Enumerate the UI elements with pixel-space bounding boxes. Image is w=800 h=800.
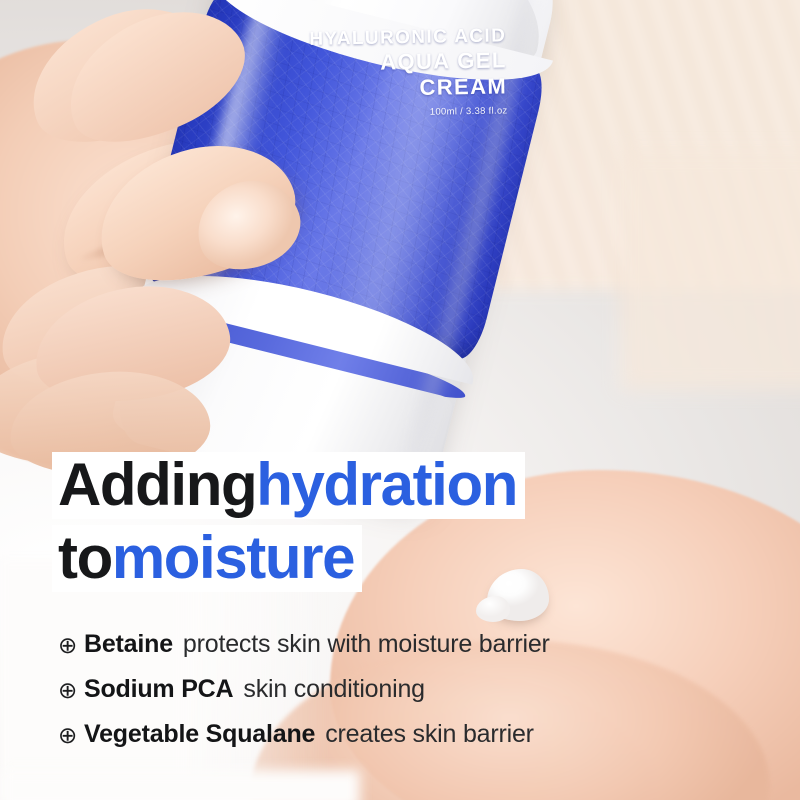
headline-line-2-dark: to xyxy=(58,524,112,591)
plus-circle-icon: ⊕ xyxy=(58,634,84,657)
plus-circle-icon: ⊕ xyxy=(58,724,84,747)
label-product-line-3: CREAM xyxy=(257,73,507,103)
label-text-block: HYALURONIC ACID AQUA GEL CREAM 100ml / 3… xyxy=(256,25,508,120)
list-item: ⊕ Betaine protects skin with moisture ba… xyxy=(58,630,550,659)
headline-line-1-blue: hydration xyxy=(256,451,517,518)
list-item: ⊕ Vegetable Squalane creates skin barrie… xyxy=(58,720,550,749)
list-item: ⊕ Sodium PCA skin conditioning xyxy=(58,675,550,704)
label-product-line-2: AQUA GEL xyxy=(256,47,506,77)
ingredient-name: Vegetable Squalane xyxy=(84,720,315,749)
ingredient-name: Sodium PCA xyxy=(84,675,233,704)
ingredient-name: Betaine xyxy=(84,630,173,659)
ingredient-description: protects skin with moisture barrier xyxy=(183,630,550,659)
headline-line-1-dark: Adding xyxy=(58,451,256,518)
ingredient-list: ⊕ Betaine protects skin with moisture ba… xyxy=(58,630,550,765)
cream-dollop-tip xyxy=(476,596,510,622)
ingredient-description: skin conditioning xyxy=(243,675,424,704)
headline-line-1: Adding hydration xyxy=(52,452,525,519)
headline-line-2: to moisture xyxy=(52,525,362,592)
headline-line-2-blue: moisture xyxy=(112,524,354,591)
product-ad-banner: AESTURA HYALURONIC ACID AQUA GEL CREAM 1… xyxy=(0,0,800,800)
plus-circle-icon: ⊕ xyxy=(58,679,84,702)
headline: Adding hydration to moisture xyxy=(52,452,525,598)
knit-fabric-background-secondary xyxy=(620,150,800,390)
photo-fade-bottom xyxy=(0,770,360,800)
ingredient-description: creates skin barrier xyxy=(325,720,534,749)
